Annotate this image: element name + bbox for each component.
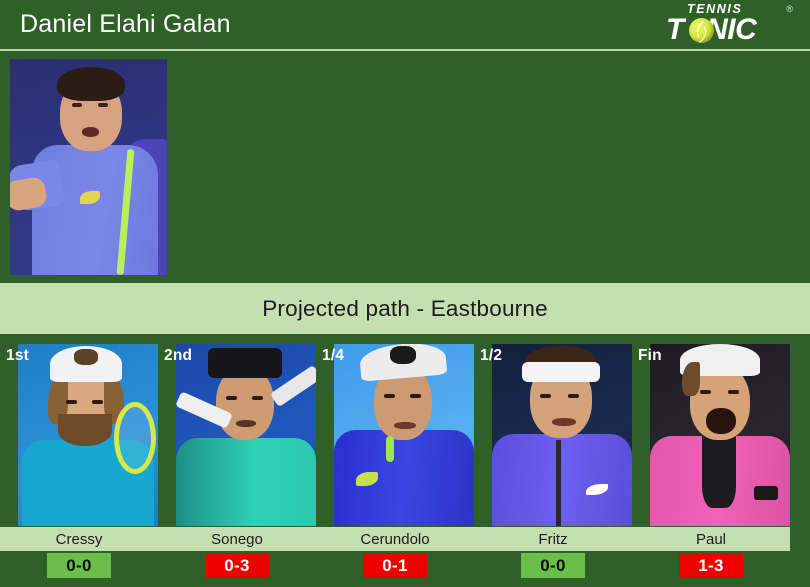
photo-shirt-logo [754,486,778,500]
photo-eye-right [252,396,263,400]
photo-eye-left [226,396,237,400]
round-badge: Fin [638,347,662,365]
photo-eye-right [92,400,103,404]
photo-mouth [236,420,256,427]
banner-title: Projected path - Eastbourne [262,296,548,322]
projected-path-cards: 1st Cressy 0-0 2nd Sonego 0-3 [0,338,810,587]
opponent-card[interactable]: Fin Paul 1-3 [632,338,790,587]
photo-shirt [492,434,632,526]
photo-eye-left [384,394,395,398]
opponent-photo [492,344,632,526]
photo-mouth-open [706,408,736,434]
photo-shirt-placket [702,436,736,508]
photo-eye-left [540,394,551,398]
photo-eye-right [410,394,421,398]
photo-shirt [334,430,474,526]
photo-headband [208,348,282,378]
projected-path-banner: Projected path - Eastbourne [0,283,810,334]
round-badge: 1st [6,347,29,365]
head-to-head-score: 0-3 [205,553,269,578]
photo-hair-left [682,362,700,396]
page-title: Daniel Elahi Galan [20,10,231,39]
tennis-ball-icon [689,18,714,43]
page-header: Daniel Elahi Galan TENNIS ® TONIC [0,0,810,48]
opponent-name: Paul [632,527,790,551]
photo-shirt-zipper [556,440,561,526]
opponent-card[interactable]: 1st Cressy 0-0 [0,338,158,587]
header-divider [0,48,810,52]
photo-mouth [394,422,416,429]
photo-cap-logo [390,346,416,364]
head-to-head-score: 0-1 [363,553,427,578]
photo-racket [114,402,156,474]
opponent-photo [176,344,316,526]
photo-eye-right [568,394,579,398]
opponent-card[interactable]: 1/2 Fritz 0-0 [474,338,632,587]
photo-shirt [176,438,316,526]
opponent-card[interactable]: 2nd Sonego 0-3 [158,338,316,587]
round-badge: 1/2 [480,347,502,365]
player-hero-photo [10,59,167,275]
head-to-head-score: 1-3 [679,553,743,578]
opponent-photo [334,344,474,526]
hero-eye-left [72,103,82,107]
tennis-tonic-logo[interactable]: TENNIS ® TONIC [666,3,794,47]
opponent-name: Sonego [158,527,316,551]
opponent-photo [18,344,158,526]
opponent-name: Cerundolo [316,527,474,551]
hero-hair-shape [57,67,125,101]
round-badge: 1/4 [322,347,344,365]
photo-headband [522,362,600,382]
photo-beard [58,414,112,446]
opponent-card[interactable]: 1/4 Cerundolo 0-1 [316,338,474,587]
logo-tonic-prefix: T [666,13,683,46]
photo-eye-left [66,400,77,404]
head-to-head-score: 0-0 [521,553,585,578]
photo-collar-accent [386,436,394,462]
opponent-name: Cressy [0,527,158,551]
round-badge: 2nd [164,347,192,365]
head-to-head-score: 0-0 [47,553,111,578]
opponent-photo [650,344,790,526]
opponent-name: Fritz [474,527,632,551]
photo-mouth [552,418,576,426]
photo-eye-right [728,390,739,394]
photo-eye-left [700,390,711,394]
photo-cap-logo [74,349,98,365]
registered-trademark-icon: ® [786,4,793,14]
hero-eye-right [98,103,108,107]
projected-path-page: Daniel Elahi Galan TENNIS ® TONIC Projec… [0,0,810,587]
hero-mouth-shape [82,127,99,137]
